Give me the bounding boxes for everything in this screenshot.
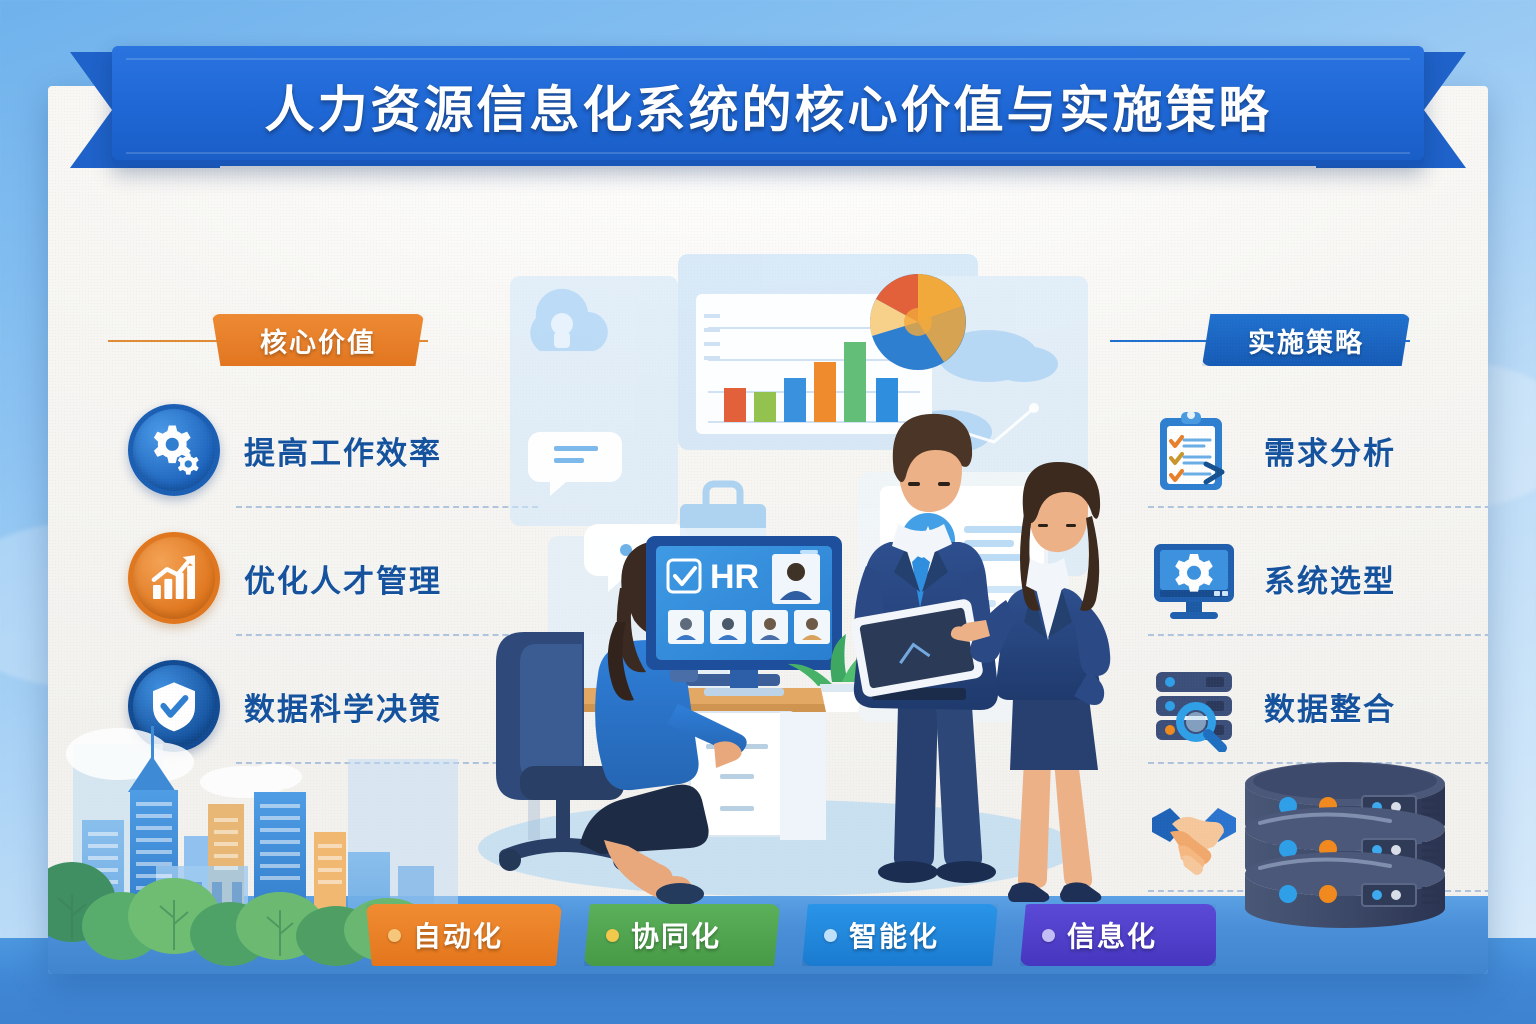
tag-label: 智能化 bbox=[849, 915, 939, 955]
left-section-badge-label: 核心价值 bbox=[260, 321, 376, 360]
growth-chart-icon bbox=[128, 532, 220, 624]
server-search-icon bbox=[1148, 660, 1240, 752]
right-section-badge: 实施策略 bbox=[1202, 314, 1410, 366]
tag-dot-icon bbox=[606, 929, 619, 942]
list-item-label: 需求分析 bbox=[1264, 428, 1396, 473]
tag-dot-icon bbox=[388, 929, 401, 942]
left-section-badge: 核心价值 bbox=[212, 314, 424, 366]
list-item-label: 数据整合 bbox=[1264, 684, 1396, 729]
tag-dot-icon bbox=[1042, 929, 1055, 942]
list-item-divider bbox=[1148, 506, 1488, 508]
infographic-canvas: HR bbox=[0, 0, 1536, 1024]
central-illustration: HR bbox=[428, 236, 1128, 936]
list-item-label: 优化人才管理 bbox=[244, 556, 442, 601]
tag-collaboration[interactable]: 协同化 bbox=[584, 904, 780, 966]
ribbon-banner: 人力资源信息化系统的核心价值与实施策略 bbox=[112, 46, 1424, 166]
tag-label: 协同化 bbox=[631, 915, 721, 955]
list-item[interactable]: 系统选型 bbox=[1148, 514, 1488, 642]
list-item-label: 系统选型 bbox=[1264, 556, 1396, 601]
title-ribbon: 人力资源信息化系统的核心价值与实施策略 bbox=[0, 0, 1536, 200]
page-title: 人力资源信息化系统的核心价值与实施策略 bbox=[112, 46, 1424, 166]
clipboard-checklist-icon bbox=[1148, 404, 1240, 496]
tag-intelligence[interactable]: 智能化 bbox=[802, 904, 998, 966]
list-item-label: 提高工作效率 bbox=[244, 428, 442, 473]
monitor-gear-icon bbox=[1148, 532, 1240, 624]
right-section-badge-label: 实施策略 bbox=[1248, 321, 1364, 360]
monitor-hr-label: HR bbox=[710, 558, 759, 596]
tag-label: 信息化 bbox=[1067, 915, 1157, 955]
tag-informatization[interactable]: 信息化 bbox=[1020, 904, 1216, 966]
infographic-card: HR bbox=[48, 86, 1488, 974]
gear-icon bbox=[128, 404, 220, 496]
server-stack-illustration bbox=[1220, 744, 1470, 934]
list-item-divider bbox=[1148, 634, 1488, 636]
tag-label: 自动化 bbox=[413, 915, 503, 955]
keyword-tag-row: 自动化 协同化 智能化 信息化 bbox=[366, 904, 1216, 966]
tag-automation[interactable]: 自动化 bbox=[366, 904, 562, 966]
list-item[interactable]: 需求分析 bbox=[1148, 386, 1488, 514]
tag-dot-icon bbox=[824, 929, 837, 942]
